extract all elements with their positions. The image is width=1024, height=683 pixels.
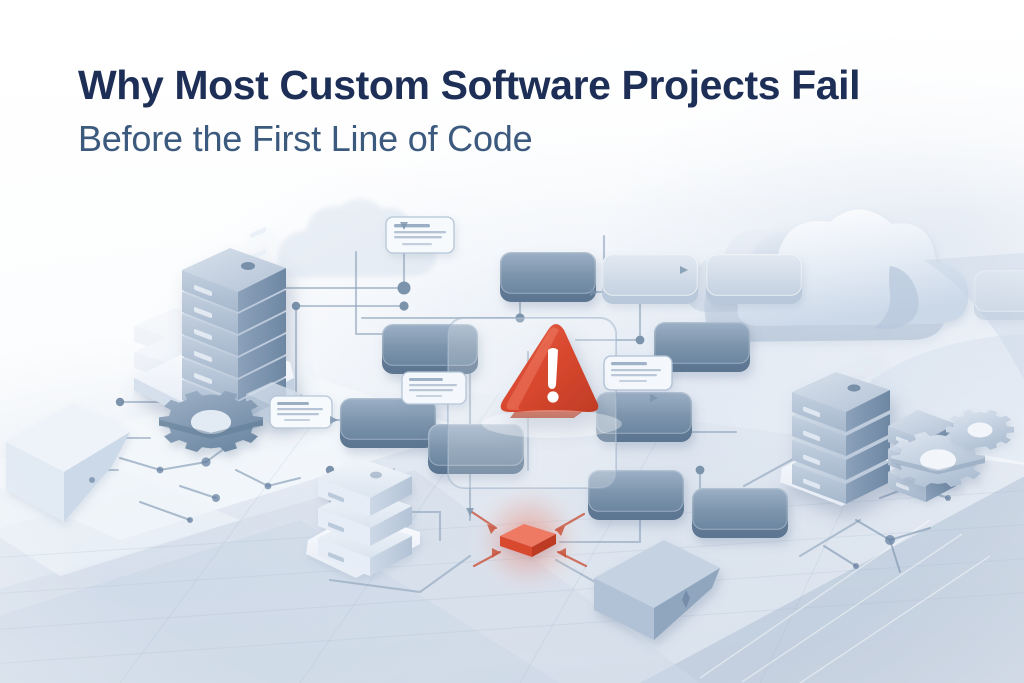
headline-block: Why Most Custom Software Projects Fail B…	[78, 62, 1008, 161]
node-far-right-top	[706, 254, 802, 304]
page-subtitle: Before the First Line of Code	[78, 118, 1008, 160]
hero-banner: Why Most Custom Software Projects Fail B…	[0, 0, 1024, 683]
page-title: Why Most Custom Software Projects Fail	[78, 62, 1008, 109]
failure-node	[466, 477, 590, 601]
node-top-center	[500, 252, 596, 302]
node-right-lower	[974, 270, 1024, 320]
node-top-right	[602, 254, 698, 304]
card-right-of-center	[604, 356, 672, 390]
card-center	[402, 372, 466, 404]
node-bottom-right	[692, 488, 788, 538]
card-top-center	[386, 217, 454, 253]
triangle-floor-highlight	[482, 410, 622, 438]
card-left-gear	[270, 396, 332, 428]
node-mid-left	[340, 398, 436, 448]
